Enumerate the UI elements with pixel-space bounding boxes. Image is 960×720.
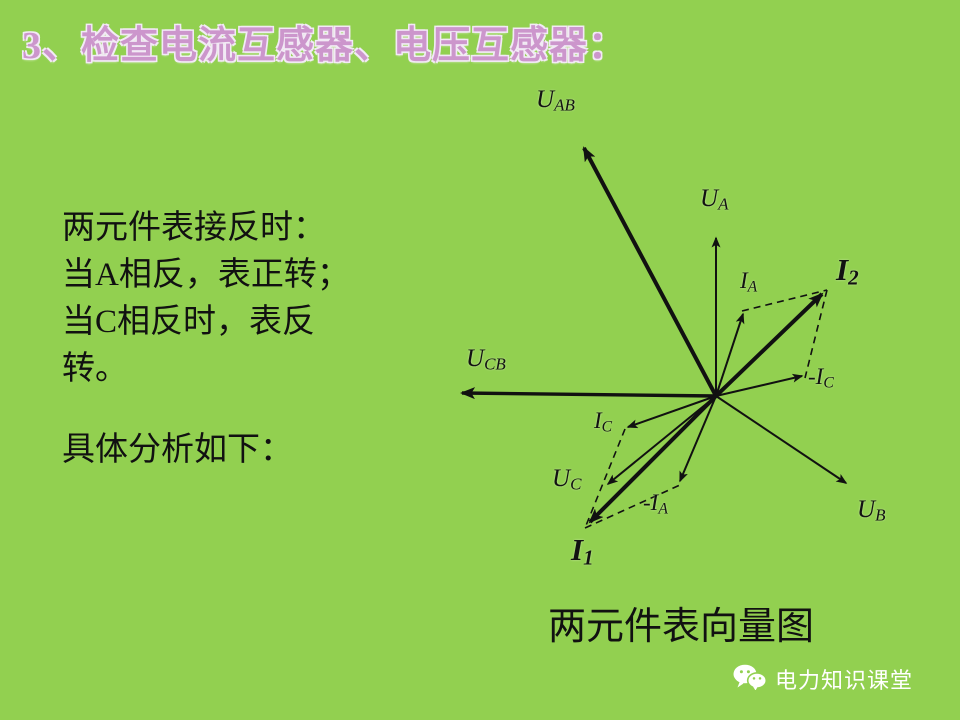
diagram-caption: 两元件表向量图 xyxy=(548,605,814,649)
watermark: 电力知识课堂 xyxy=(733,663,913,695)
label-i-a: IA xyxy=(740,268,757,296)
paragraph-two-line-1: 具体分析如下： xyxy=(62,427,422,474)
thick-vectors xyxy=(462,148,822,522)
page-title: 3、检查电流互感器、电压互感器： xyxy=(22,24,627,68)
thin-vectors xyxy=(608,238,846,484)
phasor-diagram: UAB UA UB UC UCB IA IC -IA -IC I1 I2 xyxy=(430,70,960,600)
paragraph-spacer xyxy=(62,393,422,427)
vector-u-ab xyxy=(584,148,716,396)
vector-u-b xyxy=(716,396,846,483)
paragraph-one: 两元件表接反时： 当A相反，表正转； 当C相反时，表反 转。 xyxy=(62,205,422,393)
wechat-icon-svg xyxy=(733,664,767,690)
vector-u-c xyxy=(608,396,716,484)
body-text-block: 两元件表接反时： 当A相反，表正转； 当C相反时，表反 转。 具体分析如下： xyxy=(62,205,422,474)
label-u-c: UC xyxy=(552,465,581,495)
label-neg-i-c: -IC xyxy=(808,364,834,392)
watermark-label: 电力知识课堂 xyxy=(775,663,913,695)
label-u-b: UB xyxy=(857,496,885,526)
vector-neg-i-a xyxy=(680,396,716,481)
paragraph-one-line-3: 当C相反时，表反 xyxy=(62,299,422,346)
vector-u-cb xyxy=(462,393,716,396)
paragraph-one-line-2: 当A相反，表正转； xyxy=(62,252,422,299)
wechat-icon xyxy=(733,664,767,695)
label-i-1: I1 xyxy=(571,532,594,571)
label-u-cb: UCB xyxy=(466,345,506,375)
paragraph-one-line-1: 两元件表接反时： xyxy=(62,205,422,252)
label-u-ab: UAB xyxy=(536,86,575,116)
label-i-2: I2 xyxy=(836,252,859,291)
label-u-a: UA xyxy=(700,185,728,215)
label-i-c: IC xyxy=(594,408,612,436)
paragraph-two: 具体分析如下： xyxy=(62,427,422,474)
slide-canvas: 3、检查电流互感器、电压互感器： 两元件表接反时： 当A相反，表正转； 当C相反… xyxy=(0,0,960,720)
label-neg-i-a: -IA xyxy=(643,490,668,518)
paragraph-one-line-4: 转。 xyxy=(62,346,422,393)
